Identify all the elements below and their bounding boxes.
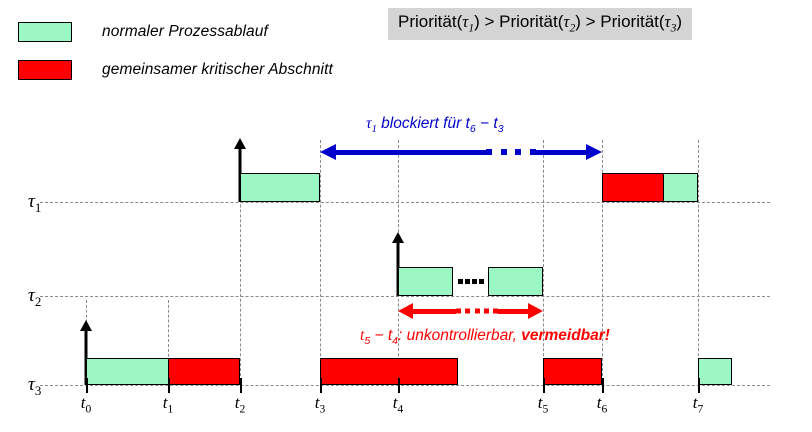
uncontrollable-duration-arrow (398, 303, 543, 319)
priority-text-2: ) > Priorität( (474, 12, 563, 31)
tick-t6 (602, 378, 604, 393)
tick-label-t4: t4 (393, 393, 404, 415)
block-tau3-critical-1 (168, 358, 240, 385)
block-tau1-normal-2 (663, 173, 698, 202)
row-label-tau3: τ3 (28, 374, 41, 399)
priority-text-3: ) > Priorität( (575, 12, 664, 31)
block-tau1-normal-1 (240, 173, 320, 202)
block-tau2-normal-2 (488, 267, 543, 296)
tick-label-t1: t1 (163, 393, 174, 415)
gridline-t3 (320, 140, 321, 386)
tick-t2 (240, 378, 242, 393)
block-tau3-normal-1 (86, 358, 168, 385)
tick-label-t3: t3 (315, 393, 326, 415)
tick-label-t7: t7 (693, 393, 704, 415)
tick-t1 (168, 378, 170, 393)
legend-item-critical: gemeinsamer kritischer Abschnitt (18, 60, 333, 80)
legend-label-normal: normaler Prozessablauf (102, 23, 268, 41)
priority-tau-1: τ1 (462, 12, 474, 31)
diagram-canvas: normaler Prozessablauf gemeinsamer kriti… (0, 0, 812, 432)
arrow-head-right-icon (586, 144, 602, 160)
tick-t4 (398, 378, 400, 393)
tick-t5 (543, 378, 545, 393)
tick-label-t6: t6 (597, 393, 608, 415)
priority-text-1: Priorität( (398, 12, 462, 31)
blocked-arrow-dots (486, 149, 536, 155)
blocked-duration-arrow (320, 144, 602, 160)
tick-t7 (698, 378, 700, 393)
block-tau3-normal-2 (698, 358, 732, 385)
priority-text-4: ) (676, 12, 682, 31)
baseline-tau2 (40, 296, 770, 297)
block-tau3-critical-3 (543, 358, 602, 385)
blocked-annotation-label: τ1 blockiert für t6 − t3 (366, 115, 504, 135)
arrow-head-left-icon (398, 303, 413, 319)
block-tau3-critical-2 (320, 358, 458, 385)
uncontrollable-annotation-label: t5 − t4: unkontrollierbar, vermeidbar! (360, 327, 610, 347)
priority-tau-3: τ3 (665, 12, 677, 31)
gridline-t5 (543, 140, 544, 386)
row-label-tau2: τ2 (28, 285, 41, 310)
arrow-head-left-icon (320, 144, 336, 160)
baseline-tau3 (40, 385, 770, 386)
baseline-tau1 (40, 202, 770, 203)
legend-item-normal: normaler Prozessablauf (18, 22, 268, 42)
priority-tau-2: τ2 (563, 12, 575, 31)
tau2-gap-dots (458, 277, 484, 285)
block-tau2-normal-1 (398, 267, 453, 296)
tick-label-t0: t0 (81, 393, 92, 415)
tick-t0 (86, 378, 88, 393)
priority-order-box: Priorität(τ1) > Priorität(τ2) > Prioritä… (388, 8, 692, 40)
tick-t3 (320, 378, 322, 393)
uncontrollable-arrow-dots (456, 309, 498, 314)
arrow-head-right-icon (528, 303, 543, 319)
tick-label-t5: t5 (538, 393, 549, 415)
legend-label-critical: gemeinsamer kritischer Abschnitt (102, 61, 333, 79)
gridline-t7 (698, 140, 699, 386)
legend-swatch-critical (18, 60, 72, 80)
block-tau1-critical (602, 173, 663, 202)
legend-swatch-normal (18, 22, 72, 42)
row-label-tau1: τ1 (28, 191, 41, 216)
tick-label-t2: t2 (235, 393, 246, 415)
